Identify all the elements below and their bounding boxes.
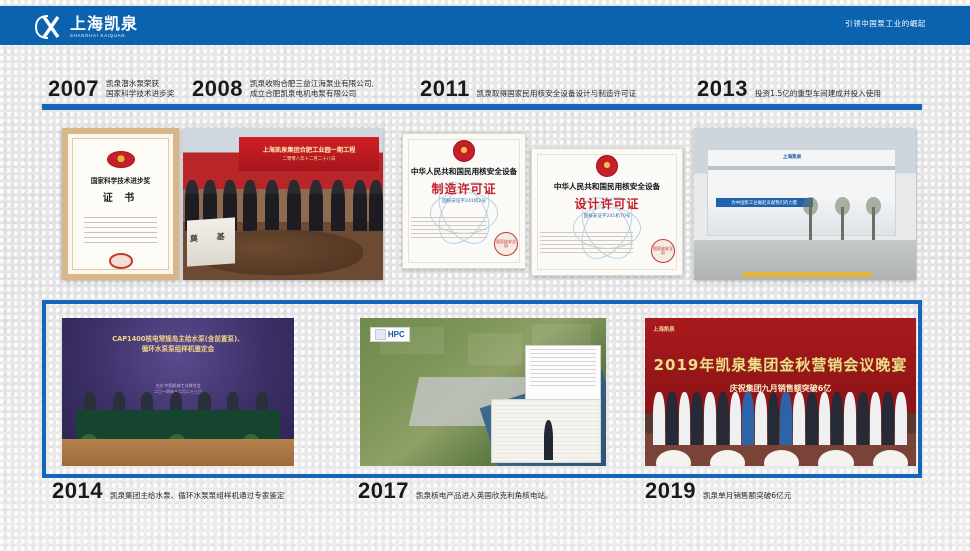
banquet-title: 2019年凯泉集团金秋营销会议晚宴 [645,354,916,375]
photo-heavy-duty-workshop: 上海凯泉 为中国泵工业崛起贡献我们的力量 [694,128,916,280]
photo-hefei-groundbreaking: 上海凯泉集团合肥工业园一期工程 二零零八年十二月二十八日 奠 基 [183,128,383,280]
hpc-badge-label: HPC [388,330,405,339]
slide-header-bar: 上海凯泉 SHANGHAI KAIQUAN 引领中国泵工业的崛起 [0,6,970,45]
banquet-tables [645,445,916,466]
banner-line-2: 二零零八年十二月二十八日 [283,156,336,162]
year-label: 2014 [52,480,103,502]
foundation-stone: 奠 基 [187,218,235,267]
company-logo: 上海凯泉 SHANGHAI KAIQUAN [34,14,138,40]
photo-cap1400-appraisal-meeting: CAP1400核电常规岛主给水泵(含前置泵)、 循环水泵泵组样机鉴定会 主办:中… [62,318,294,466]
banner-line-2: 循环水泵泵组样机鉴定会 [83,344,273,354]
photo-manufacture-licence: 中华人民共和国民用核安全设备 制造许可证 国核安证字241机2号 国家核安全局 [402,133,526,269]
factory-logo-text: 上海凯泉 [783,154,801,160]
meeting-floor [62,439,294,466]
red-seal-icon [109,253,133,269]
top-divider-rule [42,104,922,110]
national-emblem-icon [453,140,475,162]
photo-hinkley-point-c: HPC [360,318,606,466]
year-description: 凯泉取得国家民用核安全设备设计与制造许可证 [477,89,636,100]
banquet-logo-text: 上海凯泉 [653,325,675,333]
licence-type: 制造许可证 [403,180,525,197]
licence-body-lines [540,229,633,256]
foundation-stone-text: 奠 基 [190,230,233,244]
year-label: 2013 [697,78,748,100]
national-emblem-icon [596,155,618,177]
kaiquan-logo-mark-icon [34,14,64,40]
certificate-title: 国家科学技术进步奖 [91,175,150,185]
year-label: 2011 [420,78,470,100]
roof-line [708,166,894,170]
licence-body-lines [411,214,487,241]
banquet-people-row [653,392,908,445]
year-description: 凯泉核电产品进入英国欣克利角核电站。 [416,491,553,502]
timeline-entry-2008: 2008 凯泉收购合肥三益江海泵业有限公司, 成立合肥凯泉电机电泵有限公司 [192,78,374,100]
year-description: 凯泉单月销售额突破6亿元 [703,491,791,502]
year-label: 2008 [192,78,243,100]
logo-english-text: SHANGHAI KAIQUAN [70,34,138,38]
hpc-logo-icon [375,329,386,340]
yard-line-marking [741,272,873,277]
timeline-entry-2017: 2017 凯泉核电产品进入英国欣克利角核电站。 [358,480,553,502]
slide-canvas: 上海凯泉 SHANGHAI KAIQUAN 引领中国泵工业的崛起 2007 凯泉… [0,0,970,551]
national-emblem-icon [107,151,135,168]
year-description: 凯泉集团主给水泵、循环水泵泵组样机通过专家鉴定 [110,491,285,502]
groundbreaking-banner: 上海凯泉集团合肥工业园一期工程 二零零八年十二月二十八日 [239,137,379,170]
timeline-entry-2011: 2011 凯泉取得国家民用核安全设备设计与制造许可证 [420,78,636,100]
year-label: 2019 [645,480,696,502]
timeline-entry-2019: 2019 凯泉单月销售额突破6亿元 [645,480,791,502]
certificate-body-lines [84,213,156,247]
hpc-badge: HPC [370,327,410,342]
timeline-entry-2014: 2014 凯泉集团主给水泵、循环水泵泵组样机通过专家鉴定 [52,480,285,502]
factory-building: 上海凯泉 为中国泵工业崛起贡献我们的力量 [707,149,895,236]
year-label: 2007 [48,78,99,100]
logo-chinese-text: 上海凯泉 [70,16,138,32]
banner-line-1: 上海凯泉集团合肥工业园一期工程 [263,145,356,154]
meeting-banner: CAP1400核电常规岛主给水泵(含前置泵)、 循环水泵泵组样机鉴定会 [83,334,273,354]
licence-heading: 中华人民共和国民用核安全设备 [532,181,682,192]
licence-heading: 中华人民共和国民用核安全设备 [403,166,525,177]
licence-number: 国核安证字241机70号 [532,213,682,219]
year-description: 凯泉潜水泵荣获 国家科学技术进步奖 [106,79,174,101]
factory-banner: 为中国泵工业崛起贡献我们的力量 [716,198,813,207]
licence-number: 国核安证字241机2号 [403,198,525,204]
year-label: 2017 [358,480,409,502]
photo-design-licence: 中华人民共和国民用核安全设备 设计许可证 国核安证字241机70号 国家核安全局 [531,148,683,276]
official-stamp-icon: 国家核安全局 [651,239,675,263]
year-description: 投资1.5亿的重型车间建成并投入使用 [755,89,881,100]
licence-type: 设计许可证 [532,195,682,212]
certificate-subtitle: 证 书 [103,189,138,204]
photo-2019-banquet: 上海凯泉 2019年凯泉集团金秋营销会议晚宴 庆祝集团九月销售额突破6亿 [645,318,916,466]
official-stamp-icon: 国家核安全局 [494,232,518,256]
signing-photo-overlay [491,399,601,463]
header-slogan: 引领中国泵工业的崛起 [845,18,926,29]
photo-national-science-award-certificate: 国家科学技术进步奖 证 书 [62,128,179,280]
timeline-entry-2013: 2013 投资1.5亿的重型车间建成并投入使用 [697,78,881,100]
year-description: 凯泉收购合肥三益江海泵业有限公司, 成立合肥凯泉电机电泵有限公司 [250,79,374,101]
timeline-entry-2007: 2007 凯泉潜水泵荣获 国家科学技术进步奖 [48,78,174,100]
banner-line-1: CAP1400核电常规岛主给水泵(含前置泵)、 [83,334,273,344]
person-figure [544,420,553,460]
